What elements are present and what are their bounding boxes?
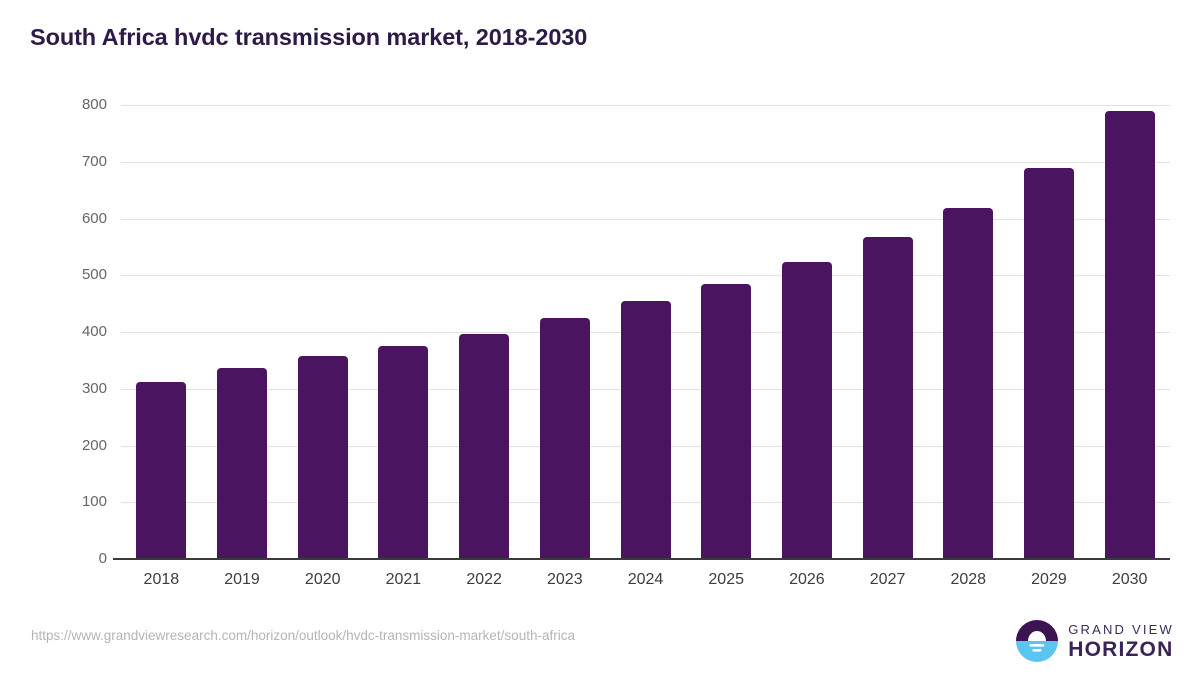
y-tick-label: 600	[0, 210, 107, 227]
source-url[interactable]: https://www.grandviewresearch.com/horizo…	[31, 628, 575, 643]
bar[interactable]	[1105, 111, 1155, 559]
bar[interactable]	[1024, 168, 1074, 559]
bar[interactable]	[621, 301, 671, 559]
x-tick-label: 2022	[444, 571, 525, 589]
page-title: South Africa hvdc transmission market, 2…	[30, 24, 587, 51]
bar[interactable]	[217, 368, 267, 559]
x-tick-label: 2027	[847, 571, 928, 589]
plot-area	[121, 105, 1170, 559]
x-tick-label: 2030	[1089, 571, 1170, 589]
x-tick-label: 2023	[524, 571, 605, 589]
x-tick-label: 2028	[928, 571, 1009, 589]
y-tick-label: 700	[0, 153, 107, 170]
y-tick-label: 800	[0, 96, 107, 113]
bar[interactable]	[701, 284, 751, 559]
x-tick-label: 2019	[202, 571, 283, 589]
bar[interactable]	[136, 382, 186, 559]
bar[interactable]	[459, 334, 509, 559]
x-tick-label: 2020	[282, 571, 363, 589]
x-tick-label: 2026	[767, 571, 848, 589]
x-tick-label: 2029	[1009, 571, 1090, 589]
bar[interactable]	[298, 356, 348, 559]
gridline	[121, 105, 1170, 106]
logo-line-2: HORIZON	[1068, 639, 1174, 660]
x-tick-label: 2025	[686, 571, 767, 589]
y-tick-label: 400	[0, 323, 107, 340]
logo-line-1: GRAND VIEW	[1068, 623, 1174, 636]
y-tick-label: 0	[0, 550, 107, 567]
logo-wordmark: GRAND VIEW HORIZON	[1068, 623, 1174, 660]
y-tick-label: 500	[0, 266, 107, 283]
gridline	[121, 162, 1170, 163]
horizon-sun-circle-icon	[1015, 619, 1059, 663]
chart-page: South Africa hvdc transmission market, 2…	[0, 0, 1200, 675]
x-tick-label: 2024	[605, 571, 686, 589]
x-tick-label: 2018	[121, 571, 202, 589]
bar[interactable]	[782, 262, 832, 559]
grand-view-horizon-logo[interactable]: GRAND VIEW HORIZON	[1015, 617, 1174, 665]
y-tick-label: 100	[0, 493, 107, 510]
bar[interactable]	[943, 208, 993, 559]
bar[interactable]	[378, 346, 428, 559]
x-axis-line	[113, 558, 1170, 560]
gridline	[121, 275, 1170, 276]
gridline	[121, 219, 1170, 220]
bar[interactable]	[863, 237, 913, 559]
y-tick-label: 200	[0, 437, 107, 454]
bar[interactable]	[540, 318, 590, 559]
y-tick-label: 300	[0, 380, 107, 397]
x-tick-label: 2021	[363, 571, 444, 589]
